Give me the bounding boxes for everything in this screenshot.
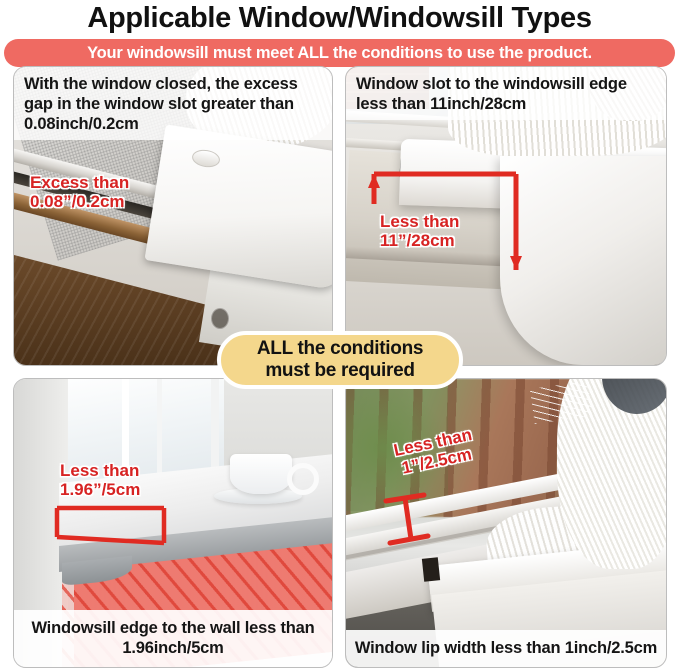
all-conditions-badge: ALL the conditions must be required <box>217 331 463 389</box>
annotation-line-2: 11”/28cm <box>380 231 459 250</box>
panel-sill-edge-to-wall[interactable]: Less than 1.96”/5cm Windowsill edge to t… <box>13 378 333 668</box>
badge-line-1: ALL the conditions <box>257 338 423 360</box>
condition-banner-label: Your windowsill must meet ALL the condit… <box>87 44 592 63</box>
panel-slot-to-sill-edge[interactable]: Less than 11”/28cm Window slot to the wi… <box>345 66 667 366</box>
measure-ibeam-1inch <box>380 491 460 551</box>
perch-clip <box>422 557 440 582</box>
annotation-line-1: Less than <box>380 212 459 231</box>
panel-caption-bottom-left: Windowsill edge to the wall less than 1.… <box>14 610 332 667</box>
annotation-slot-to-edge: Less than 11”/28cm <box>380 212 459 250</box>
coffee-cup <box>230 454 292 494</box>
annotation-excess-gap: Excess than 0.08”/0.2cm <box>30 173 129 211</box>
annotation-line-1: Less than <box>60 461 140 480</box>
badge-line-2: must be required <box>265 360 414 382</box>
panel-window-lip-width[interactable]: Less than 1”/2.5cm Window lip width less… <box>345 378 667 668</box>
panel-caption-top-left: With the window closed, the excess gap i… <box>14 67 332 140</box>
page-title: Applicable Window/Windowsill Types <box>0 0 679 33</box>
panel-window-slot-gap[interactable]: Excess than 0.08”/0.2cm With the window … <box>13 66 333 366</box>
annotation-sill-to-wall: Less than 1.96”/5cm <box>60 461 140 499</box>
annotation-line-1: Excess than <box>30 173 129 192</box>
annotation-line-2: 1.96”/5cm <box>60 480 140 499</box>
panel-caption-top-right: Window slot to the windowsill edge less … <box>346 67 666 120</box>
measure-bracket-1point96inch <box>52 503 182 563</box>
annotation-line-2: 0.08”/0.2cm <box>30 192 129 211</box>
cup-handle <box>287 463 319 495</box>
panel-caption-bottom-right: Window lip width less than 1inch/2.5cm <box>346 630 666 667</box>
